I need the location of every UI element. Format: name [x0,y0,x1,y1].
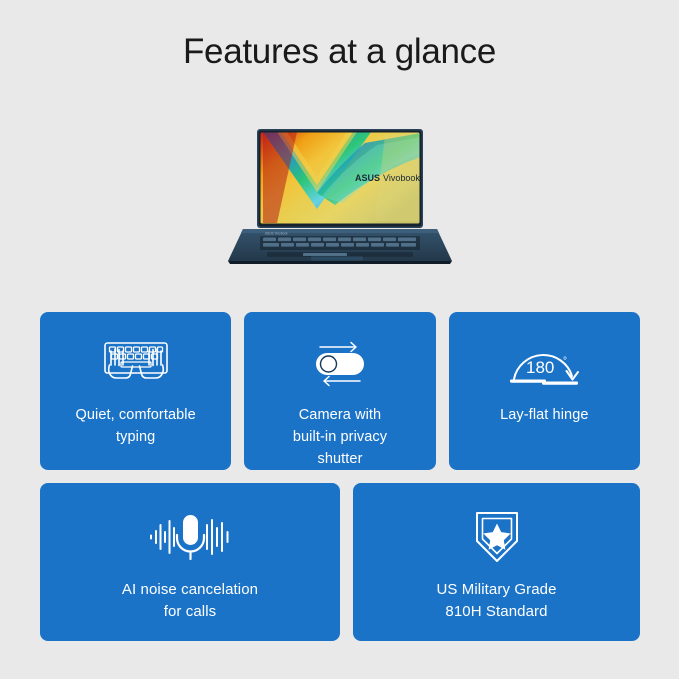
feature-card-row-1: Quiet, comfortable typing Camera with bu… [40,312,640,470]
feature-card-label: Quiet, comfortable typing [66,404,206,448]
microphone-waveform-icon [144,509,236,565]
feature-card-label: US Military Grade 810H Standard [426,579,566,623]
feature-card-label: AI noise cancelation for calls [112,579,268,623]
feature-card-grid: Quiet, comfortable typing Camera with bu… [40,312,640,641]
screen-brand-subtext: Vivobook [383,173,420,183]
feature-card-label: Lay-flat hinge [490,404,598,426]
feature-card-label: Camera with built-in privacy shutter [283,404,397,470]
page-title: Features at a glance [0,29,679,75]
feature-card-us-military-grade[interactable]: US Military Grade 810H Standard [353,483,640,641]
degree-symbol: ° [563,356,567,367]
deck-brand-text: ASUS Vivobook [265,232,288,236]
feature-card-privacy-shutter[interactable]: Camera with built-in privacy shutter [244,312,435,470]
hero-product-image: ASUS Vivobook [0,118,679,278]
hinge-degree-value: 180 [526,358,554,377]
keyboard-hands-icon [99,336,173,392]
screen-brand-text: ASUS [355,173,380,183]
feature-card-lay-flat-hinge[interactable]: 180 ° Lay-flat hinge [449,312,640,470]
laptop-product-photo: ASUS Vivobook [225,123,455,273]
camera-privacy-shutter-icon [302,336,378,392]
feature-card-ai-noise-cancelation[interactable]: AI noise cancelation for calls [40,483,340,641]
feature-card-row-2: AI noise cancelation for calls US Milita… [40,483,640,641]
shield-star-icon [468,509,526,565]
hinge-180-degree-icon: 180 ° [502,336,586,392]
feature-card-quiet-typing[interactable]: Quiet, comfortable typing [40,312,231,470]
